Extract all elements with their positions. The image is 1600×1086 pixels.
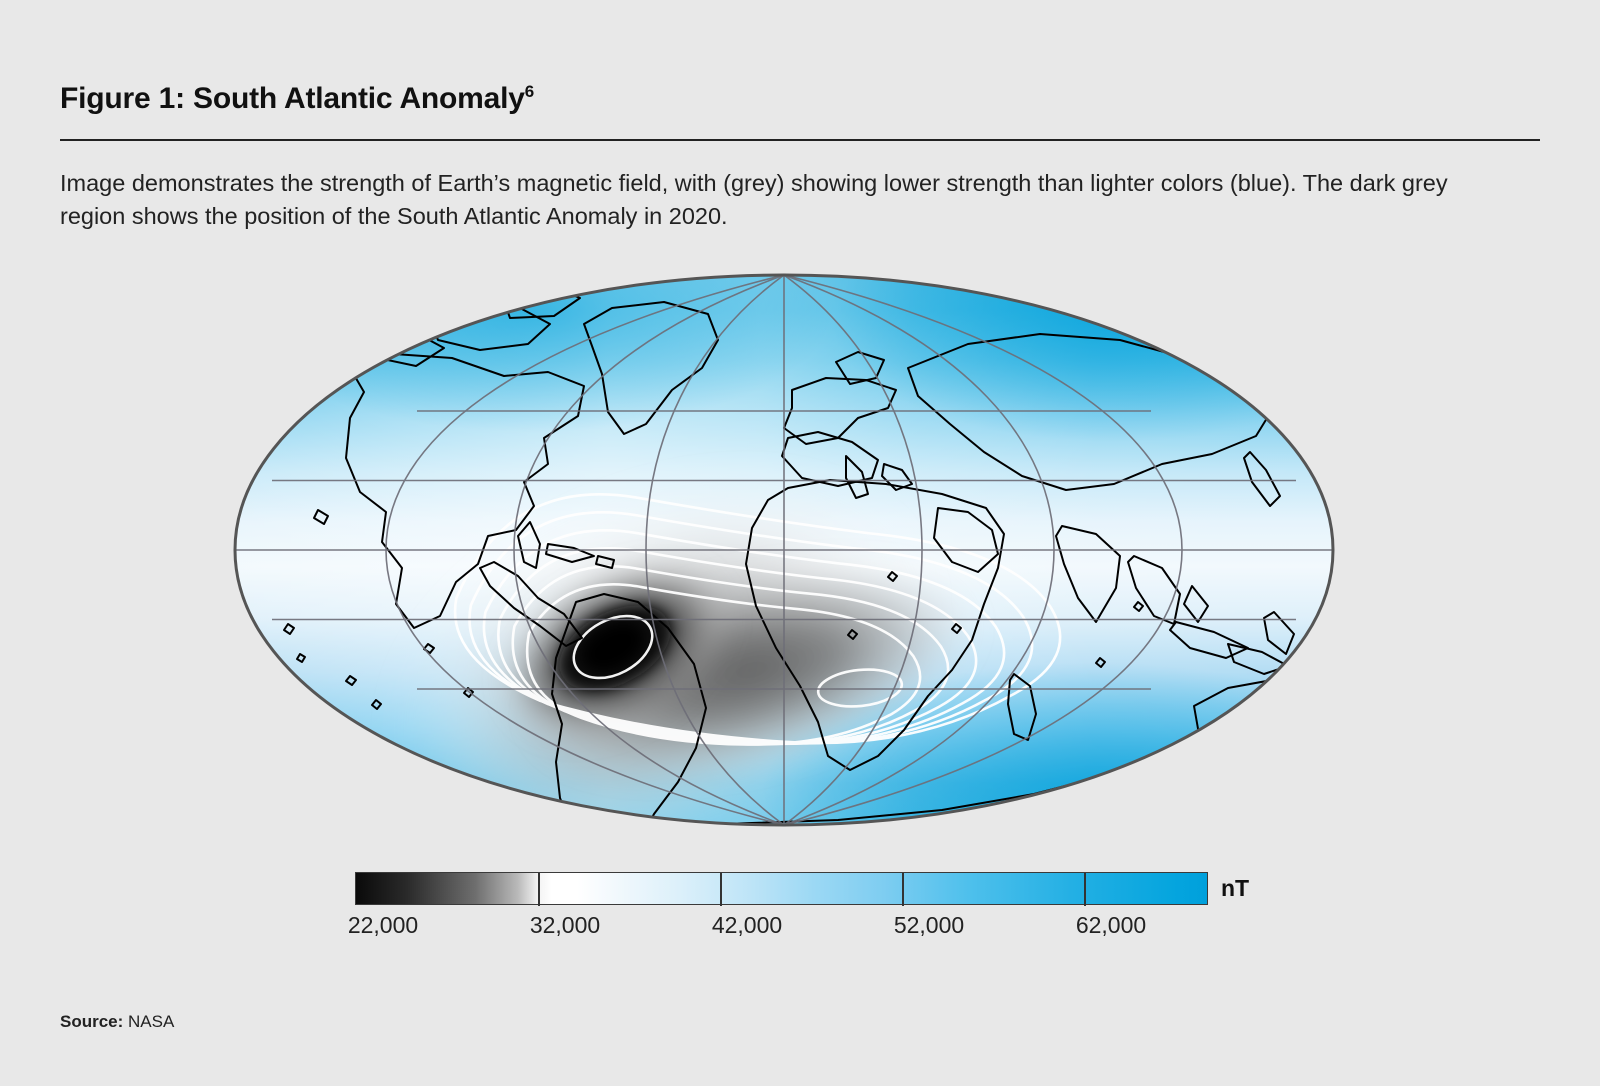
- page-title-footnote-marker: 6: [525, 82, 534, 101]
- colorbar-gradient: [355, 872, 1208, 905]
- source-note: Source: NASA: [60, 1012, 174, 1032]
- colorbar-tick-label-4: 62,000: [1076, 912, 1146, 939]
- title-divider: [60, 139, 1540, 141]
- source-label: Source:: [60, 1012, 123, 1031]
- colorbar-divider-62000: [1084, 873, 1086, 906]
- colorbar-divider-42000: [720, 873, 722, 906]
- colorbar-tick-label-3: 52,000: [894, 912, 964, 939]
- colorbar-divider-52000: [902, 873, 904, 906]
- colorbar-tick-label-0: 22,000: [348, 912, 418, 939]
- source-value: NASA: [128, 1012, 174, 1031]
- colorbar-tick-label-2: 42,000: [712, 912, 782, 939]
- colorbar: nT 22,000 32,000 42,000 52,000 62,000: [355, 872, 1235, 942]
- magnetic-field-map: [232, 272, 1336, 828]
- page-title-text: Figure 1: South Atlantic Anomaly: [60, 82, 525, 115]
- colorbar-tick-label-1: 32,000: [530, 912, 600, 939]
- colorbar-divider-32000: [538, 873, 540, 906]
- colorbar-unit-label: nT: [1221, 875, 1249, 902]
- globe-svg: [232, 272, 1336, 828]
- figure-caption: Image demonstrates the strength of Earth…: [60, 167, 1480, 234]
- page-title: Figure 1: South Atlantic Anomaly6: [60, 82, 534, 116]
